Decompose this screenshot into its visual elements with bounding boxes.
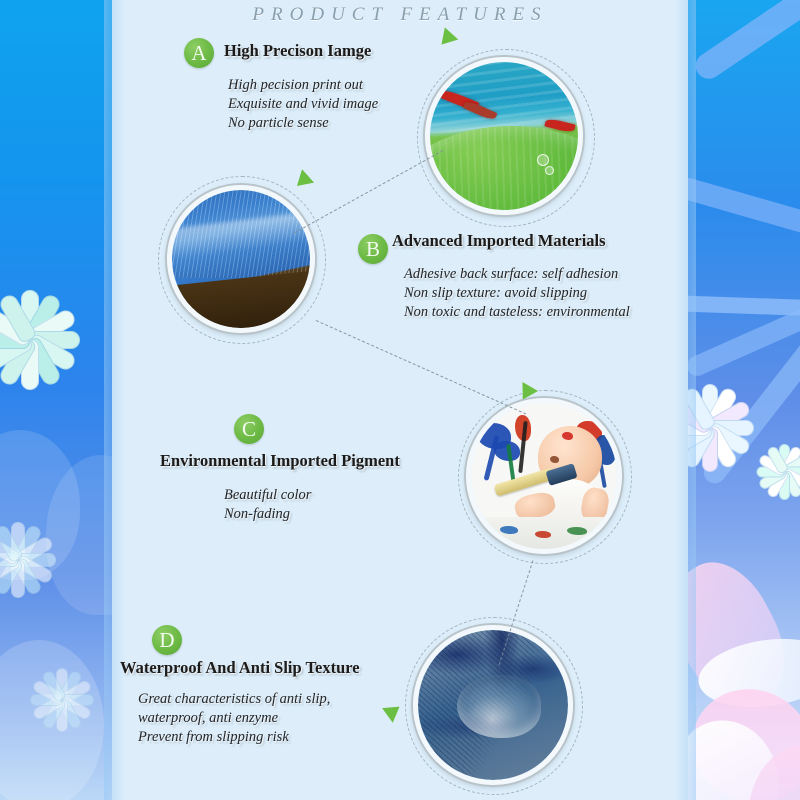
photo-circle-a	[425, 57, 583, 215]
heading-a: High Precison Iamge	[224, 41, 371, 61]
printed-mat-fish-grass-photo	[425, 57, 583, 215]
right-edge-fade	[674, 0, 696, 800]
heading-b: Advanced Imported Materials	[392, 231, 606, 251]
heading-c: Environmental Imported Pigment	[160, 451, 400, 471]
bullet-line: No particle sense	[228, 114, 378, 133]
bullet-line: Non toxic and tasteless: environmental	[404, 303, 630, 322]
badge-c: C	[234, 414, 264, 444]
bullet-line: Prevent from slipping risk	[138, 728, 330, 747]
ray-shape	[691, 0, 800, 84]
badge-d: D	[152, 625, 182, 655]
dashed-connector-line-b-c	[316, 320, 527, 414]
green-pointer-arrow-d	[382, 699, 405, 722]
bullet-line: Adhesive back surface: self adhesion	[404, 265, 630, 284]
bullet-line: Non-fading	[224, 505, 311, 524]
waterproof-droplet-texture-photo	[413, 625, 573, 785]
bullets-d: Great characteristics of anti slip, wate…	[138, 690, 330, 747]
bullet-line: Exquisite and vivid image	[228, 95, 378, 114]
left-floral-gradient-border	[0, 0, 112, 800]
blue-fabric-texture-photo	[167, 185, 315, 333]
photo-circle-c	[466, 398, 622, 554]
bullet-line: Great characteristics of anti slip,	[138, 690, 330, 709]
petal-shape	[0, 640, 104, 800]
bullet-line: waterproof, anti enzyme	[138, 709, 330, 728]
product-features-poster: PRODUCT FEATURES A High Precison Iamge H…	[0, 0, 800, 800]
badge-a: A	[184, 38, 214, 68]
page-title: PRODUCT FEATURES	[112, 4, 688, 26]
painted-baby-photo	[466, 398, 622, 554]
ray-shape	[688, 175, 800, 251]
dashed-connector-line-a-b	[294, 150, 443, 233]
bullets-a: High pecision print out Exquisite and vi…	[228, 76, 378, 133]
photo-circle-b	[167, 185, 315, 333]
badge-b: B	[358, 234, 388, 264]
bullet-line: High pecision print out	[228, 76, 378, 95]
left-edge-fade	[104, 0, 126, 800]
ray-shape	[688, 295, 800, 318]
bullets-b: Adhesive back surface: self adhesion Non…	[404, 265, 630, 322]
right-floral-gradient-border	[688, 0, 800, 800]
bullet-line: Beautiful color	[224, 486, 311, 505]
photo-circle-d	[413, 625, 573, 785]
bullets-c: Beautiful color Non-fading	[224, 486, 311, 524]
bullet-line: Non slip texture: avoid slipping	[404, 284, 630, 303]
heading-d: Waterproof And Anti Slip Texture	[120, 658, 360, 678]
title-bar: PRODUCT FEATURES	[112, 0, 688, 32]
ray-shape	[688, 280, 800, 380]
